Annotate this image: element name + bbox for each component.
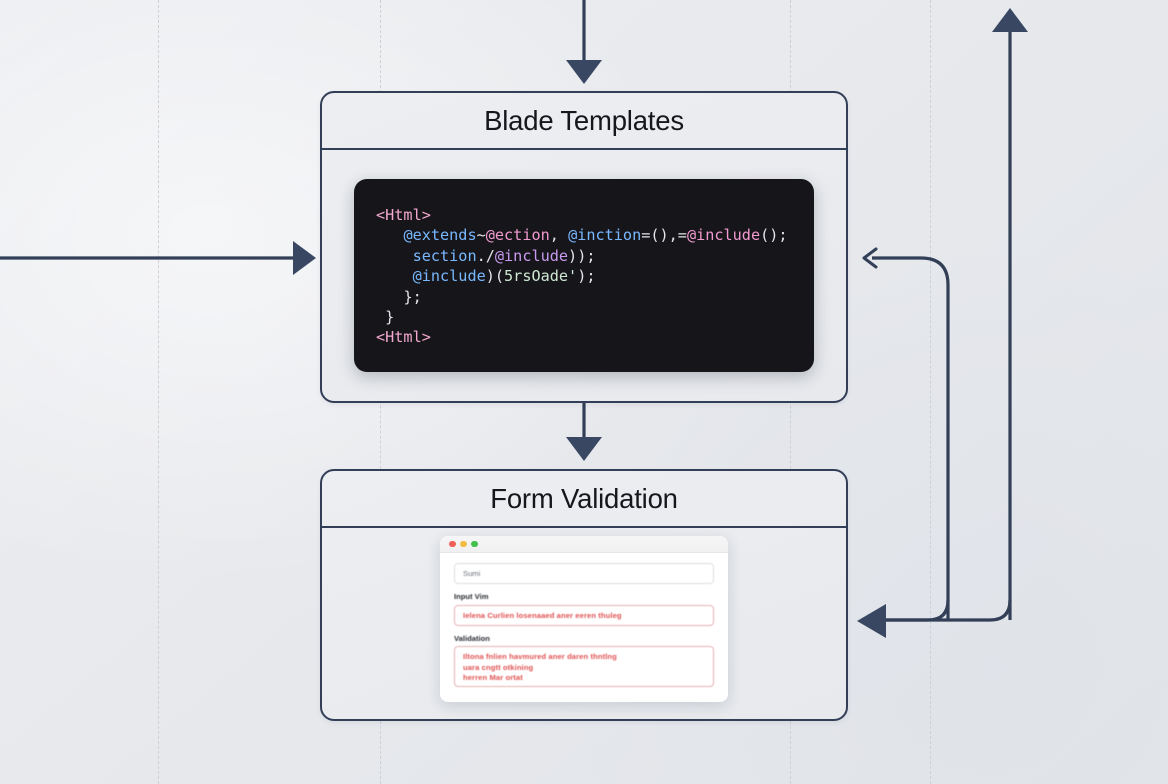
code-token: };: [403, 288, 421, 306]
code-token: ,: [550, 226, 568, 244]
code-token: @extends: [403, 226, 476, 244]
code-token: ();: [760, 226, 787, 244]
code-token: }: [385, 308, 394, 326]
code-token: @include: [687, 226, 760, 244]
code-line-5: };: [376, 287, 814, 307]
code-token: [376, 308, 385, 326]
code-token: )(: [486, 267, 504, 285]
code-token: <Html>: [376, 206, 431, 224]
validation-group-label: Validation: [454, 634, 714, 643]
code-token: );: [577, 267, 595, 285]
browser-titlebar: [440, 536, 728, 553]
code-token: @inction: [568, 226, 641, 244]
search-input[interactable]: Sumi: [454, 563, 714, 584]
feedback-to-form-arrow: [857, 600, 1010, 638]
node-body-blade-templates: <Html> @extends~@ection, @inction=(),=@i…: [322, 150, 846, 401]
code-line-6: }: [376, 307, 814, 327]
input-group-label: Input Vim: [454, 592, 714, 601]
code-token: section: [413, 247, 477, 265]
validation-error-line-1: Iltona fnlien havmured aner daren thntln…: [463, 652, 617, 663]
code-token: [376, 247, 413, 265]
node-title-form-validation: Form Validation: [490, 483, 678, 515]
code-line-3: section./@include));: [376, 246, 814, 266]
code-token: @include: [495, 247, 568, 265]
node-header-form-validation: Form Validation: [322, 471, 846, 528]
code-token: [376, 226, 403, 244]
code-token: @ection: [486, 226, 550, 244]
code-line-2: @extends~@ection, @inction=(),=@include(…: [376, 225, 814, 245]
code-line-4: @include)(5rsOade');: [376, 266, 814, 286]
validation-error-line-2: uara cngtt otkining: [463, 663, 533, 674]
node-title-blade-templates: Blade Templates: [484, 105, 684, 137]
close-dot[interactable]: [449, 541, 456, 548]
code-token: [376, 267, 413, 285]
code-token: ));: [568, 247, 595, 265]
node-header-blade-templates: Blade Templates: [322, 93, 846, 150]
node-body-form-validation: Sumi Input Vim Ielena Curlien losenaaed …: [322, 528, 846, 719]
code-line-1: <Html>: [376, 205, 814, 225]
code-token: =(),=: [641, 226, 687, 244]
code-token: [376, 288, 403, 306]
top-inbound-arrow: [566, 0, 602, 84]
node-blade-templates[interactable]: Blade Templates <Html> @extends~@ection,…: [320, 91, 848, 403]
code-token: ./: [477, 247, 495, 265]
code-token: @include: [413, 267, 486, 285]
minimize-dot[interactable]: [460, 541, 467, 548]
browser-content: Sumi Input Vim Ielena Curlien losenaaed …: [440, 553, 728, 702]
code-token: <Html>: [376, 328, 431, 346]
code-token: ~: [477, 226, 486, 244]
code-snippet-card: <Html> @extends~@ection, @inction=(),=@i…: [354, 179, 814, 372]
input-group-error-field[interactable]: Ielena Curlien losenaaed aner eeren thul…: [454, 605, 714, 626]
validation-group-error-field[interactable]: Iltona fnlien havmured aner daren thntln…: [454, 646, 714, 687]
node-form-validation[interactable]: Form Validation Sumi Input Vim Ielena Cu…: [320, 469, 848, 721]
feedback-to-blade-arrow: [864, 249, 948, 620]
left-inbound-arrow: [0, 241, 316, 275]
validation-error-line-3: herren Mar ortat: [463, 673, 523, 684]
diagram-canvas: Blade Templates <Html> @extends~@ection,…: [0, 0, 1168, 784]
browser-mockup: Sumi Input Vim Ielena Curlien losenaaed …: [440, 536, 728, 702]
right-outbound-arrow: [992, 8, 1028, 620]
code-line-7: <Html>: [376, 327, 814, 347]
blade-to-form-arrow: [566, 403, 602, 461]
maximize-dot[interactable]: [471, 541, 478, 548]
code-token: 5rsOade': [504, 267, 577, 285]
